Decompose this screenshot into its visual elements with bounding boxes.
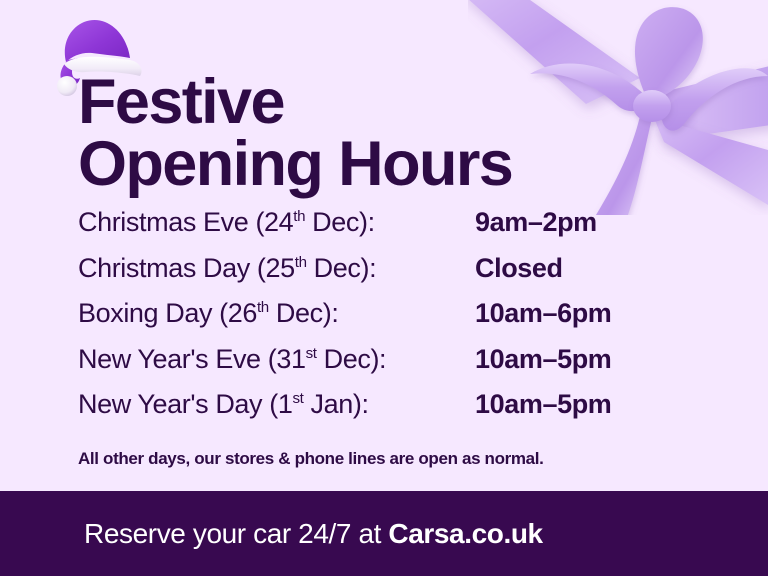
hours-value: 10am–5pm — [475, 389, 611, 420]
opening-hours-table: Christmas Eve (24th Dec): 9am–2pm Christ… — [78, 207, 698, 435]
hours-label: New Year's Eve (31st Dec): — [78, 344, 386, 375]
hours-label: Christmas Eve (24th Dec): — [78, 207, 375, 238]
hours-label-ordinal: st — [306, 345, 317, 362]
footer-cta-text: Reserve your car 24/7 at Carsa.co.uk — [84, 518, 543, 550]
hours-label-ordinal: th — [257, 299, 269, 316]
hours-label-ordinal: th — [293, 208, 305, 225]
hours-value: 10am–5pm — [475, 344, 611, 375]
page-title: Festive Opening Hours — [78, 72, 698, 195]
hours-label-ordinal: st — [292, 390, 303, 407]
table-row: Christmas Day (25th Dec): Closed — [78, 253, 698, 299]
hours-value: Closed — [475, 253, 563, 284]
hours-label-main: Christmas Eve (24 — [78, 207, 293, 237]
footer-cta-prefix: Reserve your car 24/7 at — [84, 518, 388, 549]
hours-label-main: New Year's Day (1 — [78, 389, 292, 419]
table-row: New Year's Day (1st Jan): 10am–5pm — [78, 389, 698, 435]
hours-label-tail: Dec): — [317, 344, 387, 374]
hours-label-tail: Dec): — [305, 207, 375, 237]
brand-name[interactable]: Carsa.co.uk — [388, 518, 542, 549]
hours-label-main: Boxing Day (26 — [78, 298, 257, 328]
footnote-text: All other days, our stores & phone lines… — [78, 449, 544, 469]
hours-label-main: Christmas Day (25 — [78, 253, 295, 283]
hours-label-ordinal: th — [295, 254, 307, 271]
hours-label: Boxing Day (26th Dec): — [78, 298, 338, 329]
festive-opening-hours-poster: Festive Opening Hours Christmas Eve (24t… — [0, 0, 768, 576]
hours-label-tail: Dec): — [269, 298, 339, 328]
table-row: Christmas Eve (24th Dec): 9am–2pm — [78, 207, 698, 253]
hours-label: Christmas Day (25th Dec): — [78, 253, 376, 284]
hours-label-tail: Dec): — [307, 253, 377, 283]
hours-value: 9am–2pm — [475, 207, 597, 238]
page-title-line-2: Opening Hours — [78, 134, 698, 196]
hours-label-main: New Year's Eve (31 — [78, 344, 306, 374]
footer-bar: Reserve your car 24/7 at Carsa.co.uk — [0, 491, 768, 576]
table-row: New Year's Eve (31st Dec): 10am–5pm — [78, 344, 698, 390]
page-title-line-1: Festive — [78, 72, 698, 134]
hours-value: 10am–6pm — [475, 298, 611, 329]
hours-label-tail: Jan): — [303, 389, 368, 419]
hours-label: New Year's Day (1st Jan): — [78, 389, 369, 420]
table-row: Boxing Day (26th Dec): 10am–6pm — [78, 298, 698, 344]
